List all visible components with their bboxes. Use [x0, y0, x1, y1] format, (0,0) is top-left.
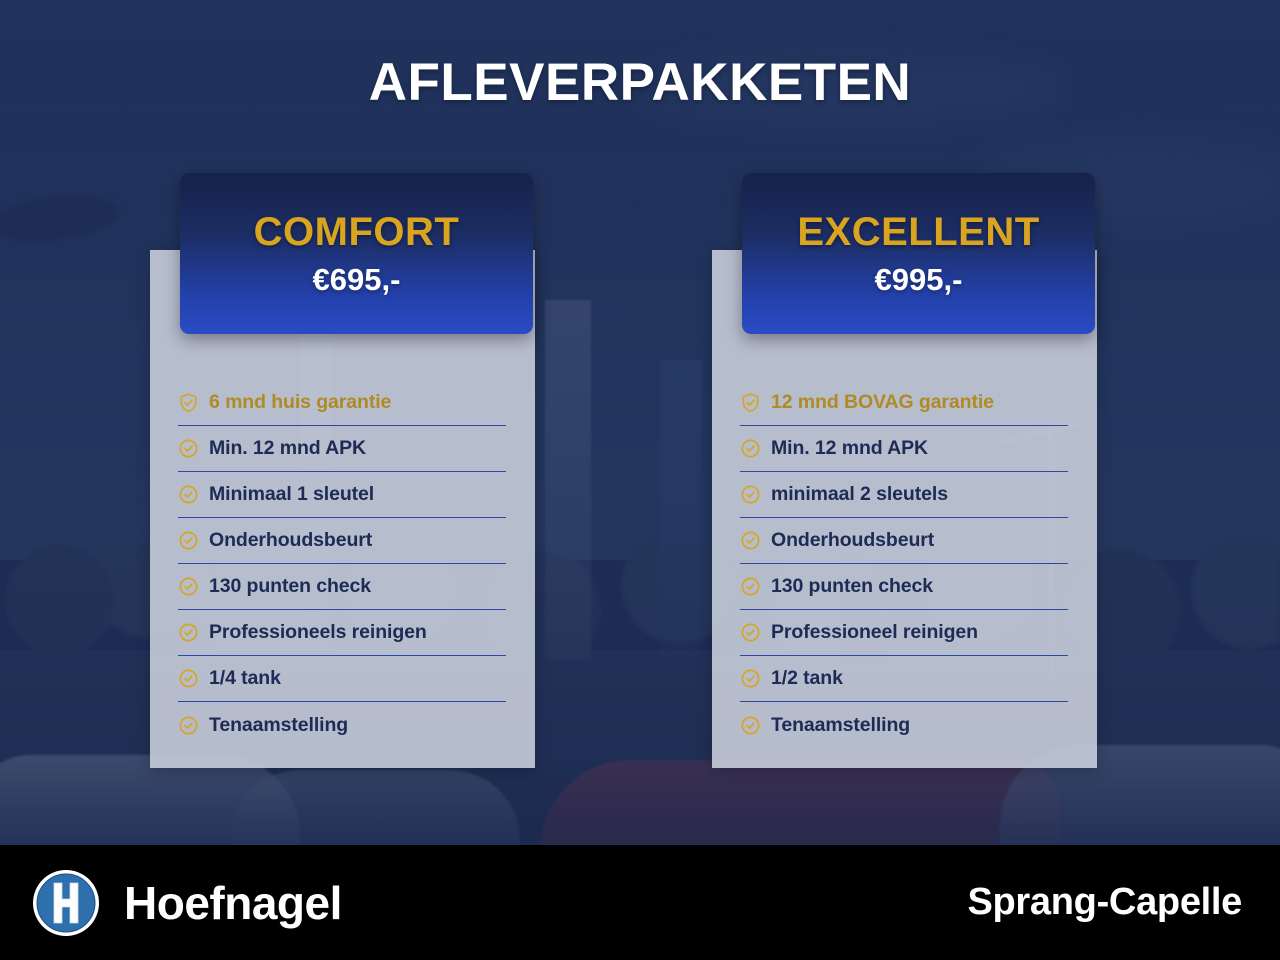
feature-label: 12 mnd BOVAG garantie — [771, 391, 994, 414]
feature-item: Professioneels reinigen — [178, 610, 506, 656]
feature-item: Professioneel reinigen — [740, 610, 1068, 656]
hoefnagel-h-logo-icon — [30, 867, 102, 939]
feature-item: 6 mnd huis garantie — [178, 380, 506, 426]
feature-label: minimaal 2 sleutels — [771, 483, 948, 506]
footer-bar: Hoefnagel Sprang-Capelle — [0, 845, 1280, 960]
circle-check-icon — [178, 668, 199, 689]
shield-check-icon — [178, 392, 199, 413]
feature-label: Onderhoudsbeurt — [209, 529, 372, 552]
feature-item: Onderhoudsbeurt — [740, 518, 1068, 564]
feature-item: 130 punten check — [740, 564, 1068, 610]
circle-check-icon — [740, 715, 761, 736]
feature-item: Min. 12 mnd APK — [178, 426, 506, 472]
page-title: AFLEVERPAKKETEN — [0, 52, 1280, 113]
brand-block: Hoefnagel — [30, 867, 342, 939]
circle-check-icon — [740, 576, 761, 597]
feature-label: Min. 12 mnd APK — [209, 437, 366, 460]
feature-label: Tenaamstelling — [209, 714, 348, 737]
circle-check-icon — [178, 715, 199, 736]
package-card-header: COMFORT €695,- — [180, 173, 533, 334]
feature-label: 130 punten check — [771, 575, 933, 598]
feature-label: Min. 12 mnd APK — [771, 437, 928, 460]
feature-label: Minimaal 1 sleutel — [209, 483, 374, 506]
feature-label: 6 mnd huis garantie — [209, 391, 391, 414]
feature-label: Professioneels reinigen — [209, 621, 427, 644]
shield-check-icon — [740, 392, 761, 413]
feature-item: 12 mnd BOVAG garantie — [740, 380, 1068, 426]
feature-item: Tenaamstelling — [740, 702, 1068, 748]
feature-item: Minimaal 1 sleutel — [178, 472, 506, 518]
circle-check-icon — [740, 668, 761, 689]
circle-check-icon — [178, 530, 199, 551]
circle-check-icon — [740, 622, 761, 643]
feature-item: Tenaamstelling — [178, 702, 506, 748]
feature-item: 1/4 tank — [178, 656, 506, 702]
package-price: €695,- — [313, 264, 401, 297]
feature-item: Onderhoudsbeurt — [178, 518, 506, 564]
feature-item: Min. 12 mnd APK — [740, 426, 1068, 472]
feature-label: 1/4 tank — [209, 667, 281, 690]
circle-check-icon — [740, 438, 761, 459]
brand-name: Hoefnagel — [124, 876, 342, 930]
package-name: COMFORT — [254, 211, 460, 253]
package-card-header: EXCELLENT €995,- — [742, 173, 1095, 334]
circle-check-icon — [740, 530, 761, 551]
location-label: Sprang-Capelle — [967, 881, 1242, 924]
feature-label: 130 punten check — [209, 575, 371, 598]
feature-item: 1/2 tank — [740, 656, 1068, 702]
feature-label: Onderhoudsbeurt — [771, 529, 934, 552]
circle-check-icon — [740, 484, 761, 505]
feature-label: 1/2 tank — [771, 667, 843, 690]
feature-label: Professioneel reinigen — [771, 621, 978, 644]
feature-item: minimaal 2 sleutels — [740, 472, 1068, 518]
circle-check-icon — [178, 622, 199, 643]
package-price: €995,- — [875, 264, 963, 297]
feature-item: 130 punten check — [178, 564, 506, 610]
feature-label: Tenaamstelling — [771, 714, 910, 737]
package-name: EXCELLENT — [797, 211, 1039, 253]
circle-check-icon — [178, 438, 199, 459]
circle-check-icon — [178, 484, 199, 505]
circle-check-icon — [178, 576, 199, 597]
feature-list: 12 mnd BOVAG garantieMin. 12 mnd APKmini… — [740, 380, 1068, 748]
feature-list: 6 mnd huis garantieMin. 12 mnd APKMinima… — [178, 380, 506, 748]
